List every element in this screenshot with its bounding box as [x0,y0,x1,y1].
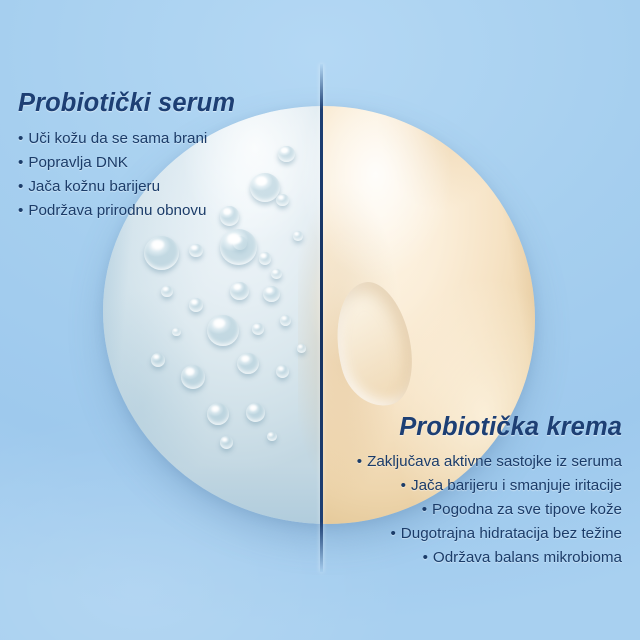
bullet-icon: • [422,501,427,518]
list-item-label: Dugotrajna hidratacija bez težine [401,525,622,542]
list-item: •Zaključava aktivne sastojke iz seruma [357,451,622,473]
promo-graphic: Probiotički serum •Uči kožu da se sama b… [0,0,640,640]
droplet [267,432,277,441]
bullet-icon: • [18,130,23,147]
serum-panel-title: Probiotički serum [18,89,235,118]
droplet [151,353,166,367]
cream-panel-title: Probiotička krema [357,413,622,442]
droplet [246,403,266,422]
droplet [276,194,289,207]
droplet [189,298,203,311]
droplet [259,252,272,265]
droplet [181,365,205,388]
droplet [220,436,233,449]
list-item-label: Zaključava aktivne sastojke iz seruma [367,453,622,470]
droplet [172,328,181,336]
list-item: •Pogodna za sve tipove kože [357,499,622,521]
serum-benefit-list: •Uči kožu da se sama brani •Popravlja DN… [18,128,235,222]
list-item-label: Jača barijeru i smanjuje iritacije [411,477,622,494]
vertical-split-line [320,64,323,572]
list-item: •Uči kožu da se sama brani [18,128,235,150]
list-item: •Podržava prirodnu obnovu [18,200,235,222]
droplet [144,236,179,270]
bullet-icon: • [401,477,406,494]
list-item: •Jača kožnu barijeru [18,176,235,198]
list-item-label: Pogodna za sve tipove kože [432,501,622,518]
list-item: •Popravlja DNK [18,152,235,174]
droplet [161,286,172,297]
list-item: •Dugotrajna hidratacija bez težine [357,523,622,545]
droplet [293,231,303,240]
bullet-icon: • [390,525,395,542]
droplet [207,315,239,346]
droplet [297,344,306,352]
cream-info-panel: Probiotička krema •Zaključava aktivne sa… [357,413,622,571]
list-item-label: Podržava prirodnu obnovu [28,202,206,219]
list-item: •Održava balans mikrobioma [357,547,622,569]
list-item: •Jača barijeru i smanjuje iritacije [357,475,622,497]
bullet-icon: • [18,202,23,219]
droplet [271,269,281,279]
droplet [276,365,289,378]
bullet-icon: • [423,549,428,566]
list-item-label: Održava balans mikrobioma [433,549,622,566]
bullet-icon: • [357,453,362,470]
list-item-label: Popravlja DNK [28,154,128,171]
cream-benefit-list: •Zaključava aktivne sastojke iz seruma •… [357,451,622,569]
bullet-icon: • [18,178,23,195]
droplet [220,229,257,265]
droplet [207,403,229,425]
bullet-icon: • [18,154,23,171]
serum-info-panel: Probiotički serum •Uči kožu da se sama b… [18,89,235,224]
list-item-label: Uči kožu da se sama brani [28,130,207,147]
list-item-label: Jača kožnu barijeru [28,178,160,195]
